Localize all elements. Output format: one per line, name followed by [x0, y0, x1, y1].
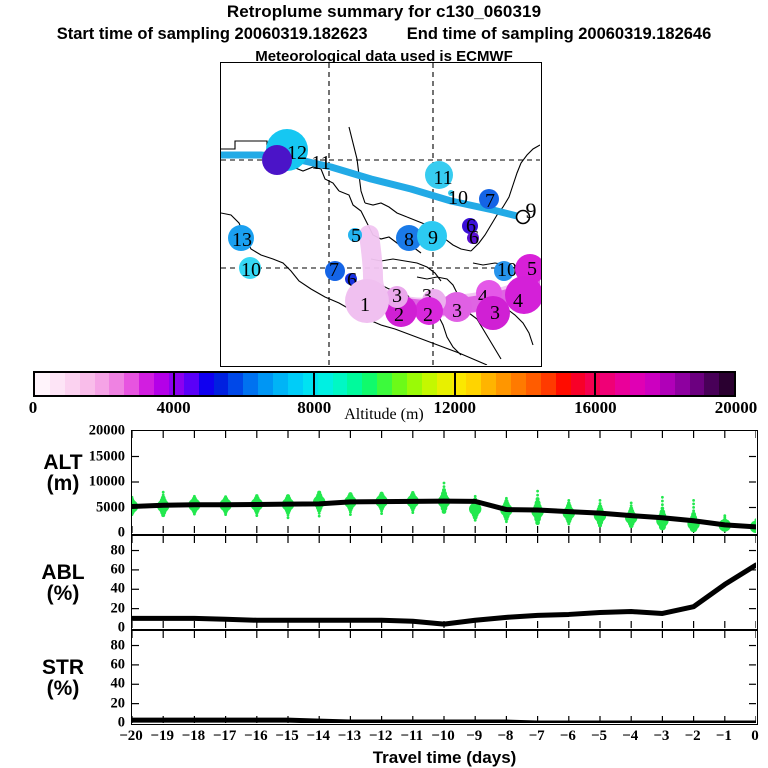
colorbar-swatch-20	[333, 373, 348, 395]
y-tick-label: 40	[60, 581, 125, 598]
y-tick-label: 80	[60, 637, 125, 654]
x-tick-label: −20	[119, 728, 143, 745]
colorbar-swatch-38	[600, 373, 615, 395]
colorbar-swatch-21	[347, 373, 362, 395]
colorbar-swatch-19	[318, 373, 333, 395]
colorbar-swatch-36	[571, 373, 586, 395]
colorbar-swatch-44	[690, 373, 705, 395]
colorbar-swatch-24	[392, 373, 407, 395]
colorbar-swatch-25	[407, 373, 422, 395]
map-bubble-label: 10	[497, 260, 517, 280]
end-time-label: End time of sampling 20060319.182646	[407, 25, 712, 44]
y-tick-label: 20000	[60, 423, 125, 440]
release-point-label: 9	[526, 200, 537, 222]
colorbar-swatch-34	[541, 373, 556, 395]
map-bubble-label: 11	[433, 168, 452, 188]
x-tick-label: −6	[560, 728, 576, 745]
y-tick-label: 80	[60, 542, 125, 559]
colorbar-swatch-22	[362, 373, 377, 395]
x-tick-label: −5	[591, 728, 607, 745]
map-bubble-label: 6	[469, 228, 479, 248]
colorbar-swatch-6	[124, 373, 139, 395]
map-bubble-label: 13	[232, 230, 252, 250]
x-tick-label: −19	[150, 728, 174, 745]
map-bubble-label: 3	[490, 303, 500, 323]
y-tick-label: 20	[60, 600, 125, 617]
x-tick-label: −13	[338, 728, 362, 745]
x-tick-label: −17	[213, 728, 237, 745]
colorbar-swatch-10	[184, 373, 199, 395]
colorbar-swatch-8	[154, 373, 169, 395]
x-tick-label: −1	[716, 728, 732, 745]
x-tick-label: −9	[466, 728, 482, 745]
map-bubble-label: 10	[241, 260, 261, 280]
x-tick-label: −8	[497, 728, 513, 745]
y-tick-label: 60	[60, 656, 125, 673]
map-bubble-label: 7	[485, 191, 495, 211]
str-panel[interactable]	[131, 630, 758, 725]
colorbar-swatch-4	[95, 373, 110, 395]
map-bubble-label: 4	[513, 291, 523, 311]
colorbar-swatch-3	[80, 373, 95, 395]
colorbar-separator	[313, 371, 315, 397]
colorbar-swatch-41	[645, 373, 660, 395]
colorbar-swatch-11	[199, 373, 214, 395]
alt-plot	[132, 431, 756, 533]
colorbar-swatch-5	[109, 373, 124, 395]
x-tick-label: −2	[685, 728, 701, 745]
retroplume-map[interactable]: 121111107131076589661054433322319	[220, 62, 542, 367]
map-bubble-label: 10	[448, 188, 468, 208]
colorbar-swatch-37	[585, 373, 600, 395]
start-time-label: Start time of sampling 20060319.182623	[57, 25, 368, 44]
y-tick-label: 15000	[60, 448, 125, 465]
colorbar-swatch-16	[273, 373, 288, 395]
colorbar-swatch-2	[65, 373, 80, 395]
colorbar-swatch-17	[288, 373, 303, 395]
map-bubble-label: 9	[428, 228, 438, 248]
colorbar-swatch-27	[437, 373, 452, 395]
map-bubble[interactable]	[505, 276, 542, 314]
colorbar-swatch-26	[422, 373, 437, 395]
map-bubble-label: 5	[351, 226, 361, 246]
colorbar-swatch-13	[228, 373, 243, 395]
colorbar-swatch-9	[169, 373, 184, 395]
colorbar-separator	[173, 371, 175, 397]
map-bubble-label: 2	[423, 305, 433, 325]
colorbar-swatch-7	[139, 373, 154, 395]
map-bubble-label: 11	[311, 153, 330, 173]
map-bubble-label: 8	[404, 230, 414, 250]
abl-panel[interactable]	[131, 535, 758, 630]
x-tick-label: 0	[751, 728, 759, 745]
colorbar-separator	[454, 371, 456, 397]
colorbar-swatch-0	[35, 373, 50, 395]
colorbar-swatch-23	[377, 373, 392, 395]
x-tick-label: −11	[400, 728, 423, 745]
y-tick-label: 10000	[60, 474, 125, 491]
map-bubble-label: 3	[452, 301, 462, 321]
x-tick-label: −18	[182, 728, 206, 745]
y-tick-label: 5000	[60, 499, 125, 516]
x-tick-label: −7	[529, 728, 545, 745]
colorbar-swatch-32	[511, 373, 526, 395]
colorbar-swatch-29	[466, 373, 481, 395]
page-title: Retroplume summary for c130_060319	[0, 2, 768, 22]
colorbar-swatch-30	[481, 373, 496, 395]
y-tick-label: 0	[60, 525, 125, 542]
colorbar-swatch-12	[214, 373, 229, 395]
colorbar-swatch-45	[704, 373, 719, 395]
colorbar-axis-label: Altitude (m)	[0, 406, 768, 424]
map-bubble-label: 3	[392, 286, 402, 306]
map-bubble-label: 2	[394, 305, 404, 325]
colorbar-swatch-35	[556, 373, 571, 395]
sampling-times: Start time of sampling 20060319.182623 E…	[0, 25, 768, 44]
colorbar-swatch-33	[526, 373, 541, 395]
x-tick-label: −15	[275, 728, 299, 745]
altitude-colorbar[interactable]	[33, 371, 736, 397]
y-tick-label: 0	[60, 620, 125, 637]
x-tick-label: −14	[306, 728, 330, 745]
map-bubble-label: 1	[360, 295, 370, 315]
colorbar-swatch-31	[496, 373, 511, 395]
y-tick-label: 40	[60, 676, 125, 693]
colorbar-swatch-39	[615, 373, 630, 395]
map-bubble[interactable]	[262, 145, 292, 175]
colorbar-separator	[594, 371, 596, 397]
colorbar-swatch-43	[675, 373, 690, 395]
colorbar-swatch-15	[258, 373, 273, 395]
x-tick-label: −10	[431, 728, 455, 745]
colorbar-swatch-40	[630, 373, 645, 395]
colorbar-swatch-14	[243, 373, 258, 395]
colorbar-swatch-1	[50, 373, 65, 395]
x-tick-label: −16	[244, 728, 268, 745]
y-tick-label: 0	[60, 715, 125, 732]
y-tick-label: 20	[60, 695, 125, 712]
x-tick-label: −12	[369, 728, 393, 745]
colorbar-swatch-46	[719, 373, 734, 395]
colorbar-swatch-18	[303, 373, 318, 395]
str-plot	[132, 631, 756, 723]
abl-plot	[132, 536, 756, 628]
map-bubble-label: 7	[329, 260, 339, 280]
x-tick-label: −3	[653, 728, 669, 745]
colorbar-swatch-42	[660, 373, 675, 395]
x-tick-label: −4	[622, 728, 638, 745]
alt-panel[interactable]	[131, 430, 758, 535]
x-axis-title: Travel time (days)	[131, 748, 758, 768]
y-tick-label: 60	[60, 561, 125, 578]
